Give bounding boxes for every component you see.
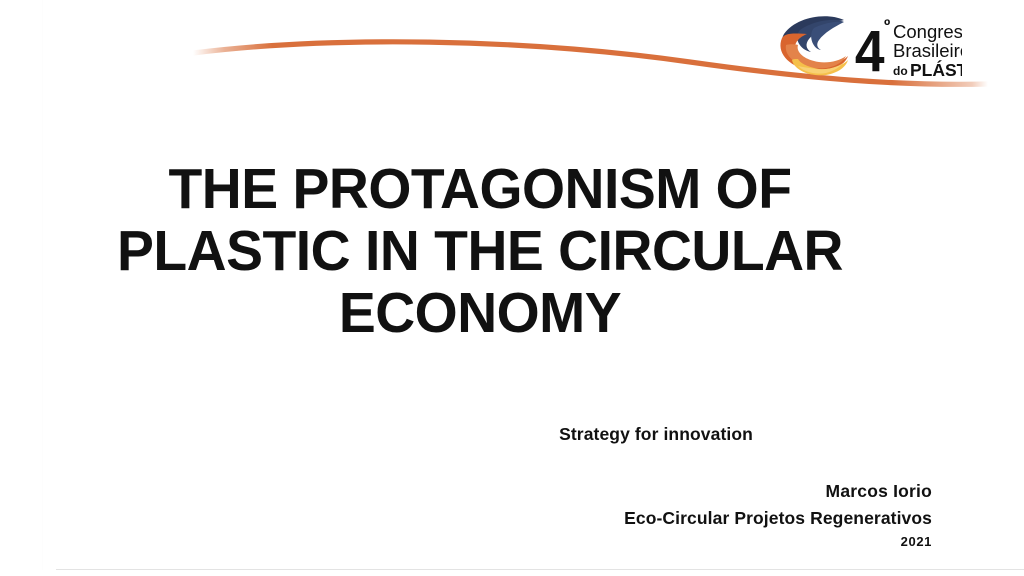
- logo-ordinal-icon: º: [884, 16, 890, 35]
- presentation-year: 2021: [624, 532, 932, 552]
- presentation-slide: 4 º Congresso Brasileiro do PLÁSTICO THE…: [0, 0, 1024, 576]
- congresso-logo: 4 º Congresso Brasileiro do PLÁSTICO: [762, 4, 962, 84]
- content-area-edge: [42, 0, 43, 570]
- title-line-3: ECONOMY: [73, 282, 888, 344]
- title-line-1: THE PROTAGONISM OF: [73, 158, 888, 220]
- logo-swoosh-mark: [780, 16, 848, 75]
- footer-divider: [56, 569, 1024, 570]
- logo-edition-number: 4: [855, 19, 885, 84]
- logo-line-plastico: PLÁSTICO: [910, 59, 962, 80]
- author-name: Marcos Iorio: [624, 478, 932, 504]
- slide-subtitle: Strategy for innovation: [380, 423, 932, 445]
- credits-block: Marcos Iorio Eco-Circular Projetos Regen…: [624, 478, 932, 552]
- slide-title: THE PROTAGONISM OF PLASTIC IN THE CIRCUL…: [60, 158, 900, 344]
- logo-line-do: do: [893, 64, 908, 78]
- logo-line-congresso: Congresso: [893, 21, 962, 42]
- title-line-2: PLASTIC IN THE CIRCULAR: [73, 220, 888, 282]
- author-organization: Eco-Circular Projetos Regenerativos: [624, 504, 932, 532]
- logo-line-brasileiro: Brasileiro: [893, 40, 962, 61]
